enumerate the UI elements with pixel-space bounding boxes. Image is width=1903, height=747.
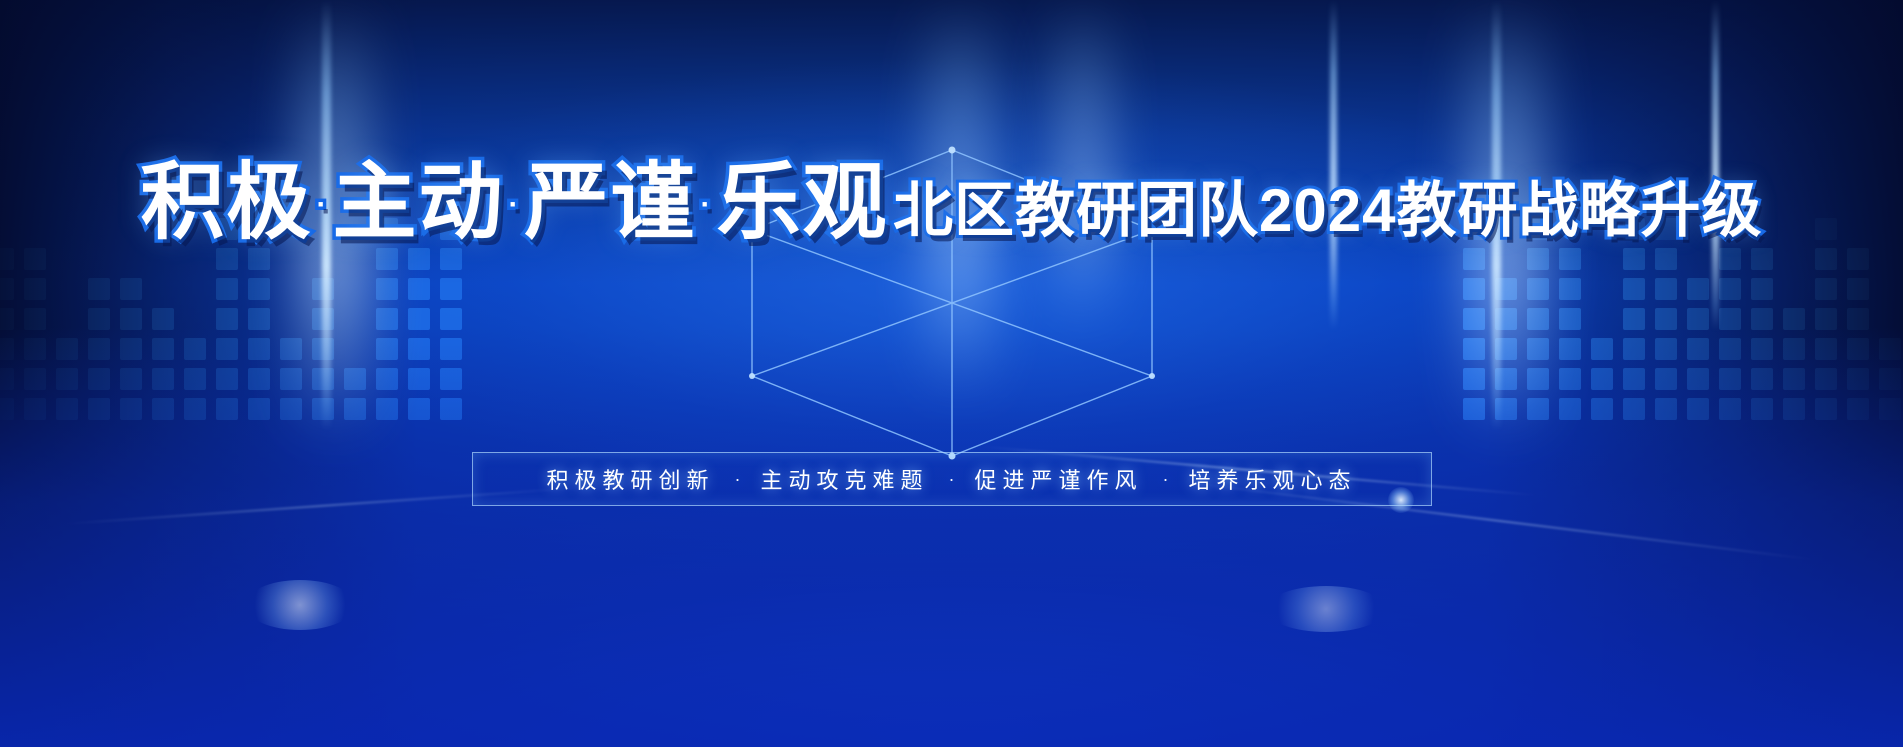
skyline-cell: [1815, 278, 1837, 300]
skyline-cell: [408, 278, 430, 300]
skyline-cell: [1751, 248, 1773, 270]
light-spark: [1266, 586, 1386, 632]
title-separator-dot: ·: [509, 188, 521, 221]
skyline-cell: [1815, 248, 1837, 270]
skyline-cell: [88, 278, 110, 300]
tagline-container: 积极教研创新·主动攻克难题·促进严谨作风·培养乐观心态: [472, 452, 1432, 506]
tagline: 积极教研创新·主动攻克难题·促进严谨作风·培养乐观心态: [472, 452, 1432, 506]
skyline-cell: [1559, 278, 1581, 300]
title-segment: 积极: [141, 155, 313, 249]
skyline-cell: [0, 248, 14, 270]
title-separator-dot: ·: [701, 188, 713, 221]
skyline-cell: [1719, 278, 1741, 300]
tagline-item: 积极教研创新: [546, 463, 714, 495]
skyline-cell: [440, 248, 462, 270]
skyline-cell: [440, 278, 462, 300]
tagline-separator-dot: ·: [1163, 469, 1169, 490]
skyline-cell: [1559, 248, 1581, 270]
skyline-cell: [216, 248, 238, 270]
tagline-item: 促进严谨作风: [975, 463, 1143, 495]
skyline-cell: [0, 278, 14, 300]
skyline-cell: [376, 278, 398, 300]
skyline-cell: [24, 278, 46, 300]
skyline-cell: [248, 248, 270, 270]
skyline-cell: [1655, 278, 1677, 300]
title-segment: 主动: [333, 155, 505, 249]
skyline-cell: [1719, 248, 1741, 270]
skyline-cell: [1847, 278, 1869, 300]
skyline-cell: [1847, 248, 1869, 270]
skyline-cell: [1687, 278, 1709, 300]
title-segment: 乐观: [717, 155, 889, 249]
skyline-cell: [408, 248, 430, 270]
skyline-cell: [120, 278, 142, 300]
skyline-cell: [24, 248, 46, 270]
skyline-cell: [376, 248, 398, 270]
tagline-item: 主动攻克难题: [760, 463, 928, 495]
title-block: 积极·主动·严谨·乐观 北区教研团队2024教研战略升级: [0, 152, 1903, 249]
title-separator-dot: ·: [317, 188, 329, 221]
hero-banner: 积极·主动·严谨·乐观 北区教研团队2024教研战略升级 积极教研创新·主动攻克…: [0, 0, 1903, 747]
skyline-cell: [1655, 248, 1677, 270]
skyline-cell: [1623, 278, 1645, 300]
tagline-separator-dot: ·: [949, 469, 955, 490]
skyline-cell: [1751, 278, 1773, 300]
light-spark: [245, 580, 355, 630]
main-title: 积极·主动·严谨·乐观: [141, 158, 889, 247]
tagline-separator-dot: ·: [734, 469, 740, 490]
skyline-cell: [248, 278, 270, 300]
title-segment: 严谨: [525, 155, 697, 249]
skyline-cell: [1623, 248, 1645, 270]
sub-title: 北区教研团队2024教研战略升级: [893, 162, 1762, 249]
tagline-item: 培养乐观心态: [1189, 463, 1357, 495]
skyline-cell: [216, 278, 238, 300]
